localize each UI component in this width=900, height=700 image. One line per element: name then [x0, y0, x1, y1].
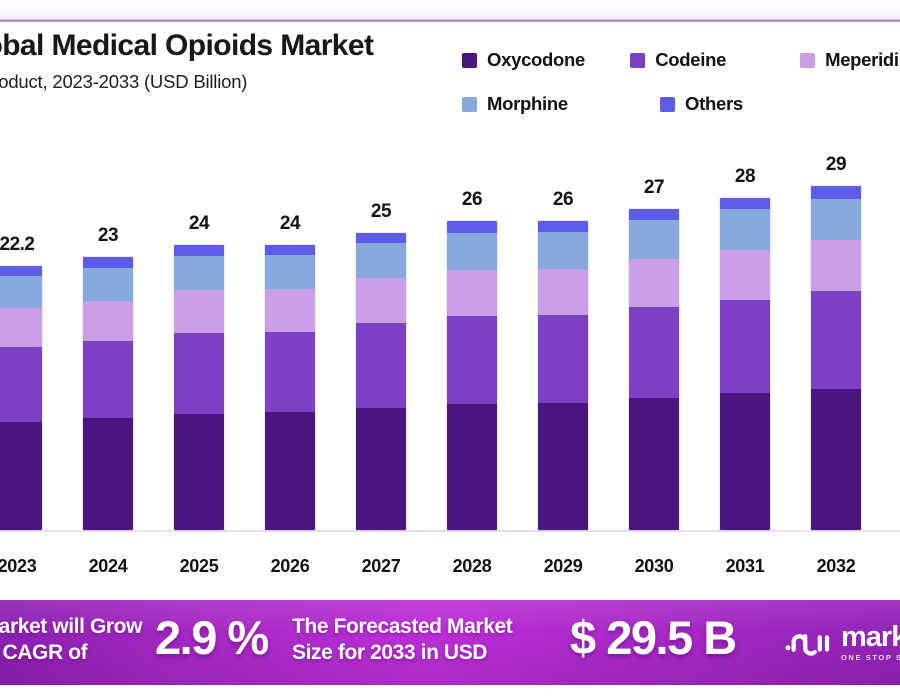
bar-segment-oxycodone[interactable]: [629, 398, 679, 530]
bar-segment-others[interactable]: [811, 186, 861, 199]
x-axis-label-2024: 2024: [89, 556, 128, 577]
bar-segment-others[interactable]: [174, 245, 224, 256]
legend-label-meperidine: Meperidine: [825, 49, 900, 71]
bar-value-label: 29: [826, 154, 846, 176]
bar-segment-others[interactable]: [265, 245, 315, 255]
forecast-caption-line2: Size for 2033 in USD: [292, 640, 512, 666]
legend-swatch-icon: [462, 53, 477, 68]
chart-header: Global Medical Opioids Market By Product…: [0, 26, 900, 138]
legend-swatch-icon: [462, 97, 477, 112]
bar-group-2024: 23: [83, 257, 133, 530]
legend-label-codeine: Codeine: [655, 49, 726, 71]
bar-segment-codeine[interactable]: [447, 316, 497, 404]
bar-segment-meperidine[interactable]: [629, 259, 679, 307]
legend-row-2: Morphine Others: [462, 82, 900, 126]
market-us-logo-icon: [784, 626, 834, 660]
bar-segment-others[interactable]: [0, 266, 42, 276]
stacked-bar[interactable]: [811, 186, 861, 530]
bar-segment-meperidine[interactable]: [720, 250, 770, 300]
bar-segment-morphine[interactable]: [83, 268, 133, 301]
bar-segment-meperidine[interactable]: [0, 308, 42, 347]
brand-logo[interactable]: market.us ONE STOP SHOP: [784, 622, 900, 664]
legend-item-morphine[interactable]: Morphine: [462, 93, 660, 115]
bar-segment-meperidine[interactable]: [538, 269, 588, 315]
stacked-bar[interactable]: [174, 245, 224, 530]
bar-group-2026: 24: [265, 245, 315, 530]
bar-group-2029: 26: [538, 221, 588, 530]
bar-value-label: 22.2: [0, 234, 34, 256]
bar-segment-codeine[interactable]: [811, 291, 861, 388]
x-axis-label-2029: 2029: [544, 556, 583, 577]
chart-subtitle: By Product, 2023-2033 (USD Billion): [0, 71, 424, 93]
bar-segment-others[interactable]: [356, 233, 406, 243]
x-axis-label-2026: 2026: [271, 556, 310, 577]
forecast-caption: The Forecasted Market Size for 2033 in U…: [292, 614, 512, 667]
title-block: Global Medical Opioids Market By Product…: [0, 30, 424, 93]
stacked-bar[interactable]: [447, 221, 497, 530]
chart-legend: Oxycodone Codeine Meperidine Morphine Ot…: [462, 38, 900, 126]
bar-segment-codeine[interactable]: [0, 347, 42, 422]
legend-label-oxycodone: Oxycodone: [487, 49, 585, 71]
x-axis-label-2023: 2023: [0, 556, 36, 577]
summary-banner: The Market will Grow At the CAGR of 2.9 …: [0, 600, 900, 685]
bottom-white-strip: [0, 685, 900, 700]
bar-segment-meperidine[interactable]: [356, 278, 406, 323]
bar-segment-oxycodone[interactable]: [720, 393, 770, 530]
stacked-bar[interactable]: [629, 209, 679, 530]
bar-segment-morphine[interactable]: [0, 276, 42, 308]
bar-segment-others[interactable]: [447, 221, 497, 233]
bar-segment-morphine[interactable]: [720, 209, 770, 249]
bar-group-2032: 29: [811, 186, 861, 530]
x-axis-label-2025: 2025: [180, 556, 219, 577]
x-axis-label-2028: 2028: [453, 556, 492, 577]
bar-value-label: 28: [735, 166, 755, 188]
stacked-bar[interactable]: [0, 266, 42, 530]
logo-text-block: market.us ONE STOP SHOP: [841, 624, 900, 663]
page-title: Global Medical Opioids Market: [0, 30, 424, 62]
bar-segment-codeine[interactable]: [629, 307, 679, 398]
stacked-bar[interactable]: [83, 257, 133, 530]
axis-baseline: [0, 530, 900, 532]
bar-segment-morphine[interactable]: [447, 233, 497, 270]
bar-value-label: 27: [644, 177, 664, 199]
bar-segment-oxycodone[interactable]: [356, 408, 406, 530]
bar-group-2031: 28: [720, 198, 770, 531]
stacked-bar[interactable]: [538, 221, 588, 530]
stacked-bar-chart: 22.2232424252626272829 20232024202520262…: [0, 150, 900, 595]
bar-segment-oxycodone[interactable]: [265, 412, 315, 530]
stacked-bar[interactable]: [265, 245, 315, 530]
logo-tagline: ONE STOP SHOP: [841, 653, 900, 662]
bar-group-2023: 22.2: [0, 266, 42, 530]
bar-segment-oxycodone[interactable]: [83, 418, 133, 530]
legend-swatch-icon: [660, 97, 675, 112]
bar-segment-codeine[interactable]: [83, 341, 133, 418]
bar-value-label: 26: [553, 189, 573, 211]
bar-segment-meperidine[interactable]: [265, 289, 315, 332]
legend-item-codeine[interactable]: Codeine: [630, 49, 800, 71]
bar-segment-others[interactable]: [720, 198, 770, 210]
bar-segment-oxycodone[interactable]: [174, 414, 224, 530]
bar-segment-others[interactable]: [538, 221, 588, 232]
bar-segment-morphine[interactable]: [265, 255, 315, 289]
forecast-value: $ 29.5 B: [570, 610, 736, 665]
legend-item-meperidine[interactable]: Meperidine: [800, 49, 900, 71]
bar-segment-meperidine[interactable]: [811, 240, 861, 291]
legend-label-morphine: Morphine: [487, 93, 568, 115]
cagr-value: 2.9 %: [155, 610, 268, 665]
bar-segment-meperidine[interactable]: [174, 290, 224, 333]
bar-value-label: 23: [98, 225, 118, 247]
bar-segment-morphine[interactable]: [538, 232, 588, 269]
bar-segment-codeine[interactable]: [265, 332, 315, 413]
bar-value-label: 24: [280, 213, 300, 235]
bar-segment-morphine[interactable]: [174, 256, 224, 290]
forecast-caption-line1: The Forecasted Market: [292, 614, 512, 640]
x-axis-label-2031: 2031: [726, 556, 765, 577]
legend-row-1: Oxycodone Codeine Meperidine: [462, 38, 900, 82]
top-gradient-strip: [0, 0, 900, 19]
legend-label-others: Others: [685, 93, 743, 115]
legend-swatch-icon: [630, 53, 645, 68]
legend-item-oxycodone[interactable]: Oxycodone: [462, 49, 630, 71]
top-divider-rule: [0, 19, 900, 22]
bar-segment-oxycodone[interactable]: [811, 389, 861, 530]
bar-value-label: 24: [189, 213, 209, 235]
bar-group-2025: 24: [174, 245, 224, 530]
stacked-bar[interactable]: [356, 233, 406, 530]
x-axis-label-2027: 2027: [362, 556, 401, 577]
x-axis-label-2032: 2032: [817, 556, 856, 577]
bar-segment-others[interactable]: [629, 209, 679, 220]
bar-segment-morphine[interactable]: [629, 220, 679, 259]
bar-value-label: 25: [371, 201, 391, 223]
bar-group-2027: 25: [356, 233, 406, 530]
legend-item-others[interactable]: Others: [660, 93, 860, 115]
cagr-caption: The Market will Grow At the CAGR of: [0, 614, 142, 667]
bar-segment-codeine[interactable]: [356, 323, 406, 407]
bar-group-2028: 26: [447, 221, 497, 530]
x-axis-label-2030: 2030: [635, 556, 674, 577]
bar-segment-others[interactable]: [83, 257, 133, 268]
bar-segment-oxycodone[interactable]: [447, 404, 497, 530]
bar-segment-codeine[interactable]: [538, 315, 588, 403]
legend-swatch-icon: [800, 53, 815, 68]
stacked-bar[interactable]: [720, 198, 770, 531]
bar-segment-oxycodone[interactable]: [0, 422, 42, 530]
bar-segment-codeine[interactable]: [174, 333, 224, 414]
bar-segment-oxycodone[interactable]: [538, 403, 588, 530]
bar-segment-codeine[interactable]: [720, 300, 770, 394]
cagr-caption-line1: The Market will Grow: [0, 614, 142, 640]
bar-segment-meperidine[interactable]: [447, 270, 497, 316]
bar-segment-meperidine[interactable]: [83, 301, 133, 341]
bar-value-label: 26: [462, 189, 482, 211]
cagr-caption-line2: At the CAGR of: [0, 640, 142, 666]
bar-group-2030: 27: [629, 209, 679, 530]
logo-wordmark: market.us: [841, 624, 900, 652]
bar-segment-morphine[interactable]: [356, 243, 406, 279]
bar-segment-morphine[interactable]: [811, 199, 861, 241]
